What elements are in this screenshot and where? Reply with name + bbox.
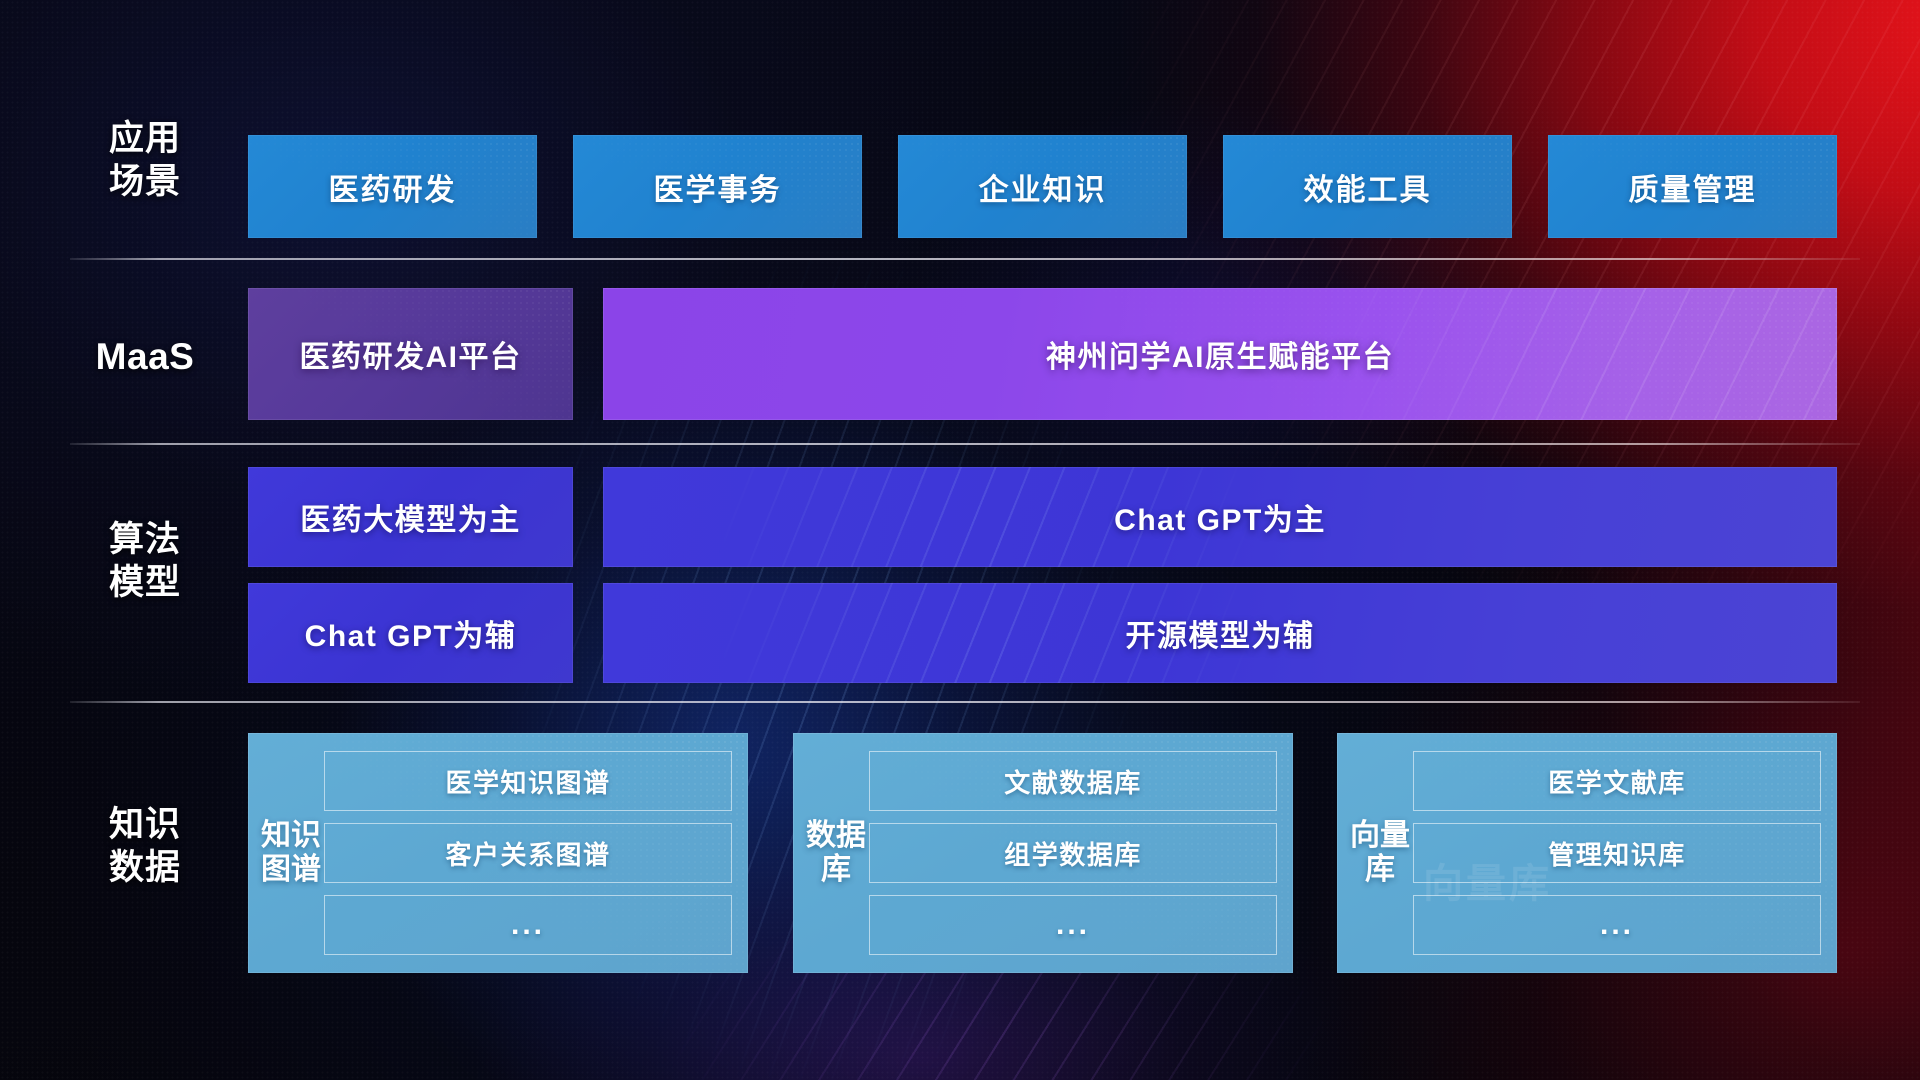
maas-platform-drug-rd[interactable]: 医药研发AI平台	[248, 288, 573, 420]
knowledge-item[interactable]: 组学数据库	[869, 823, 1277, 883]
knowledge-item[interactable]: 医学知识图谱	[324, 751, 732, 811]
algo-bar-chatgpt-primary[interactable]: Chat GPT为主	[603, 467, 1837, 567]
knowledge-block-title: 知识图谱	[258, 819, 324, 886]
row-label-knowledge: 知识 数据	[70, 803, 220, 890]
knowledge-item-more[interactable]: ...	[1413, 895, 1821, 955]
knowledge-item[interactable]: 客户关系图谱	[324, 823, 732, 883]
app-box-enterprise-knowledge[interactable]: 企业知识	[898, 135, 1187, 238]
knowledge-item-list: 文献数据库 组学数据库 ...	[869, 751, 1277, 955]
app-box-label: 企业知识	[979, 165, 1107, 209]
algo-bar-label: Chat GPT为主	[1114, 495, 1326, 539]
diagram-canvas: 应用 场景 医药研发 医学事务 企业知识 效能工具 质量管理 MaaS 医药研发…	[0, 0, 1920, 1080]
divider-maas-algorithm	[70, 443, 1860, 445]
knowledge-item-list: 医学知识图谱 客户关系图谱 ...	[324, 751, 732, 955]
knowledge-item-list: 医学文献库 管理知识库 ...	[1413, 751, 1821, 955]
knowledge-item[interactable]: 文献数据库	[869, 751, 1277, 811]
algo-bar-drug-llm-primary[interactable]: 医药大模型为主	[248, 467, 573, 567]
knowledge-item-more[interactable]: ...	[869, 895, 1277, 955]
knowledge-block-vector-store[interactable]: 向量库 向量库 医学文献库 管理知识库 ...	[1337, 733, 1837, 973]
app-box-quality-management[interactable]: 质量管理	[1548, 135, 1837, 238]
app-box-label: 医学事务	[654, 165, 782, 209]
algo-bar-opensource-secondary[interactable]: 开源模型为辅	[603, 583, 1837, 683]
algo-bar-label: 开源模型为辅	[1126, 611, 1315, 655]
knowledge-block-title: 数据库	[803, 819, 869, 886]
row-label-maas: MaaS	[70, 334, 220, 380]
maas-right-label: 神州问学AI原生赋能平台	[1046, 332, 1394, 376]
app-box-label: 医药研发	[329, 165, 457, 209]
app-box-label: 质量管理	[1629, 165, 1757, 209]
app-box-label: 效能工具	[1304, 165, 1432, 209]
maas-platform-shenzhou-wenxue[interactable]: 神州问学AI原生赋能平台	[603, 288, 1837, 420]
divider-algorithm-knowledge	[70, 701, 1860, 703]
algo-bar-label: 医药大模型为主	[300, 495, 521, 539]
app-box-drug-rd[interactable]: 医药研发	[248, 135, 537, 238]
row-label-application: 应用 场景	[70, 117, 220, 204]
knowledge-item[interactable]: 医学文献库	[1413, 751, 1821, 811]
knowledge-item-more[interactable]: ...	[324, 895, 732, 955]
divider-application-maas	[70, 258, 1860, 260]
knowledge-block-title: 向量库	[1347, 819, 1413, 886]
app-box-medical-affairs[interactable]: 医学事务	[573, 135, 862, 238]
knowledge-block-database[interactable]: 数据库 文献数据库 组学数据库 ...	[793, 733, 1293, 973]
maas-left-label: 医药研发AI平台	[300, 332, 522, 376]
algo-bar-chatgpt-secondary[interactable]: Chat GPT为辅	[248, 583, 573, 683]
algo-bar-label: Chat GPT为辅	[305, 611, 517, 655]
knowledge-block-knowledge-graph[interactable]: 知识图谱 医学知识图谱 客户关系图谱 ...	[248, 733, 748, 973]
knowledge-item[interactable]: 管理知识库	[1413, 823, 1821, 883]
app-box-efficiency-tools[interactable]: 效能工具	[1223, 135, 1512, 238]
row-label-algorithm: 算法 模型	[70, 518, 220, 605]
